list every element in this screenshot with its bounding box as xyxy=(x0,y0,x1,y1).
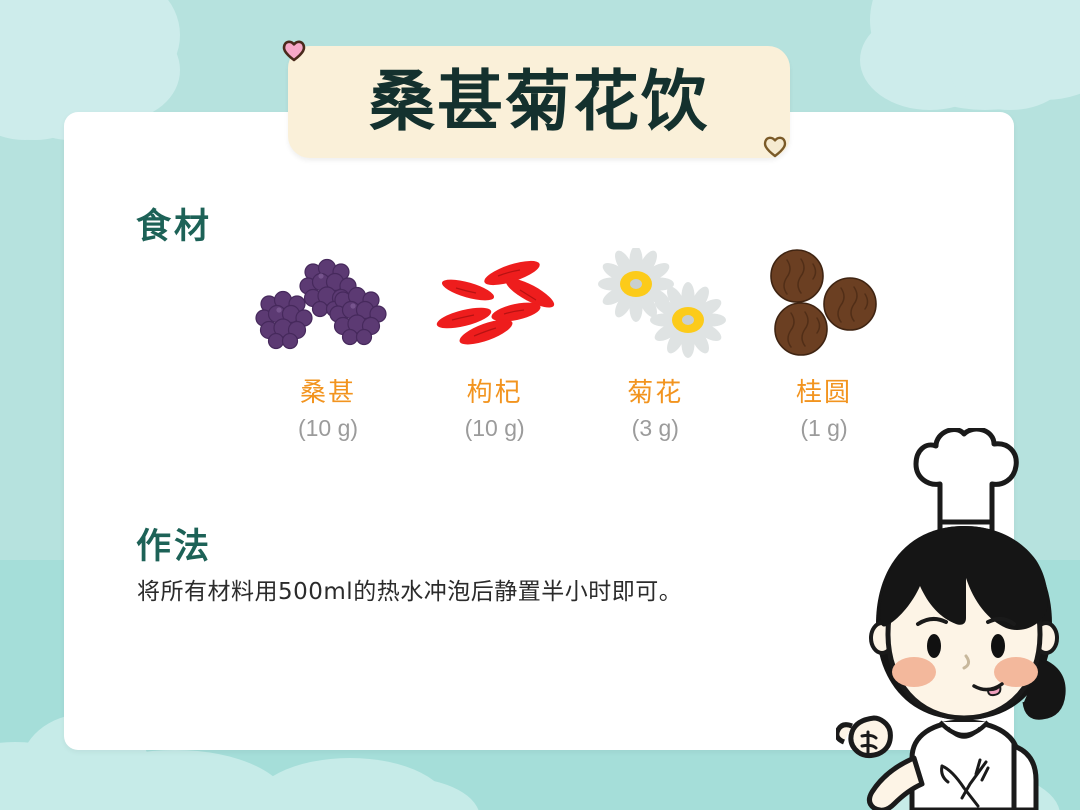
ingredient-amount: (10 g) xyxy=(465,415,525,442)
method-description: 将所有材料用500ml的热水冲泡后静置半小时即可。 xyxy=(137,572,897,606)
ingredient-amount: (10 g) xyxy=(298,415,358,442)
ingredient-item-mulberry: 桑甚 (10 g) xyxy=(248,248,408,458)
ingredient-item-goji: 枸杞 (10 g) xyxy=(415,248,575,458)
heart-icon xyxy=(281,38,307,62)
mulberry-icon xyxy=(253,248,403,358)
heart-icon xyxy=(762,134,788,158)
goji-berry-icon xyxy=(420,248,570,358)
recipe-card-page: 桑甚菊花饮 食材 作法 将所有材料用500ml的热水冲泡后静置半小时即可。 xyxy=(0,0,1080,810)
ingredient-name: 枸杞 xyxy=(467,372,523,409)
ingredient-name: 桑甚 xyxy=(300,372,356,409)
ingredient-amount: (3 g) xyxy=(632,415,679,442)
ingredient-name: 桂圆 xyxy=(796,372,852,409)
longan-icon xyxy=(753,248,903,358)
chef-character xyxy=(836,428,1080,810)
eye-right xyxy=(991,634,1005,658)
title-banner: 桑甚菊花饮 xyxy=(288,46,790,158)
ingredient-item-chrysanthemum: 菊花 (3 g) xyxy=(581,248,741,458)
ingredient-list: 桑甚 (10 g) xyxy=(248,248,908,458)
page-title: 桑甚菊花饮 xyxy=(288,46,790,158)
chrysanthemum-icon xyxy=(586,248,736,358)
ingredient-name: 菊花 xyxy=(627,372,683,409)
eye-left xyxy=(927,634,941,658)
ingredients-heading: 食材 xyxy=(136,198,212,249)
method-heading: 作法 xyxy=(136,518,212,569)
chef-hat xyxy=(916,429,1016,536)
cheek-right xyxy=(994,657,1038,687)
cheek-left xyxy=(892,657,936,687)
ingredient-item-longan: 桂圆 (1 g) xyxy=(748,248,908,458)
